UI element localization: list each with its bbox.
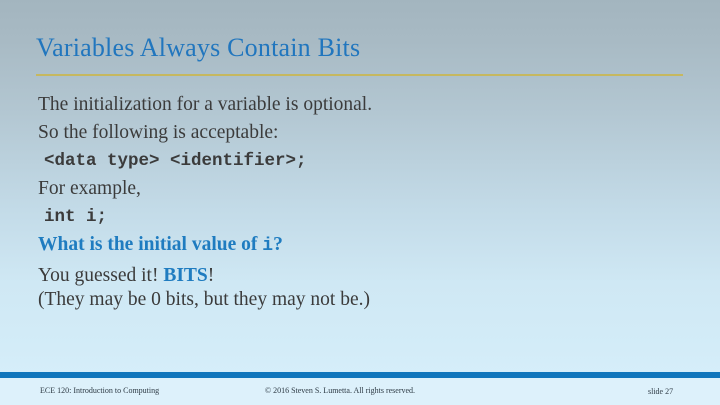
title-divider [36, 74, 683, 76]
footer-copyright: © 2016 Steven S. Lumetta. All rights res… [265, 386, 415, 395]
answer-group: You guessed it! BITS! (They may be 0 bit… [38, 264, 698, 312]
question-line: What is the initial value of i? [38, 231, 698, 260]
slide-footer: ECE 120: Introduction to Computing © 201… [0, 378, 720, 405]
answer-prefix: You guessed it! [38, 265, 163, 286]
body-line-for-example: For example, [38, 175, 698, 203]
question-suffix: ? [273, 234, 283, 255]
answer-suffix: ! [208, 265, 215, 286]
question-variable: i [262, 236, 273, 256]
footer-course-name: ECE 120: Introduction to Computing [40, 386, 159, 395]
answer-emphasis-bits: BITS [163, 265, 207, 286]
title-block: Variables Always Contain Bits [36, 33, 696, 63]
answer-line-parenthetical: (They may be 0 bits, but they may not be… [38, 288, 698, 312]
body-line-initialization: The initialization for a variable is opt… [38, 91, 698, 119]
code-line-int-i: int i; [38, 203, 698, 231]
page-title: Variables Always Contain Bits [36, 33, 696, 63]
question-prefix: What is the initial value of [38, 234, 262, 255]
footer-slide-number: slide 27 [648, 387, 673, 396]
answer-line-bits: You guessed it! BITS! [38, 264, 698, 288]
slide-body: The initialization for a variable is opt… [38, 91, 698, 312]
slide-canvas: Variables Always Contain Bits The initia… [0, 0, 720, 405]
code-line-declaration-syntax: <data type> <identifier>; [38, 147, 698, 175]
body-line-acceptable: So the following is acceptable: [38, 119, 698, 147]
